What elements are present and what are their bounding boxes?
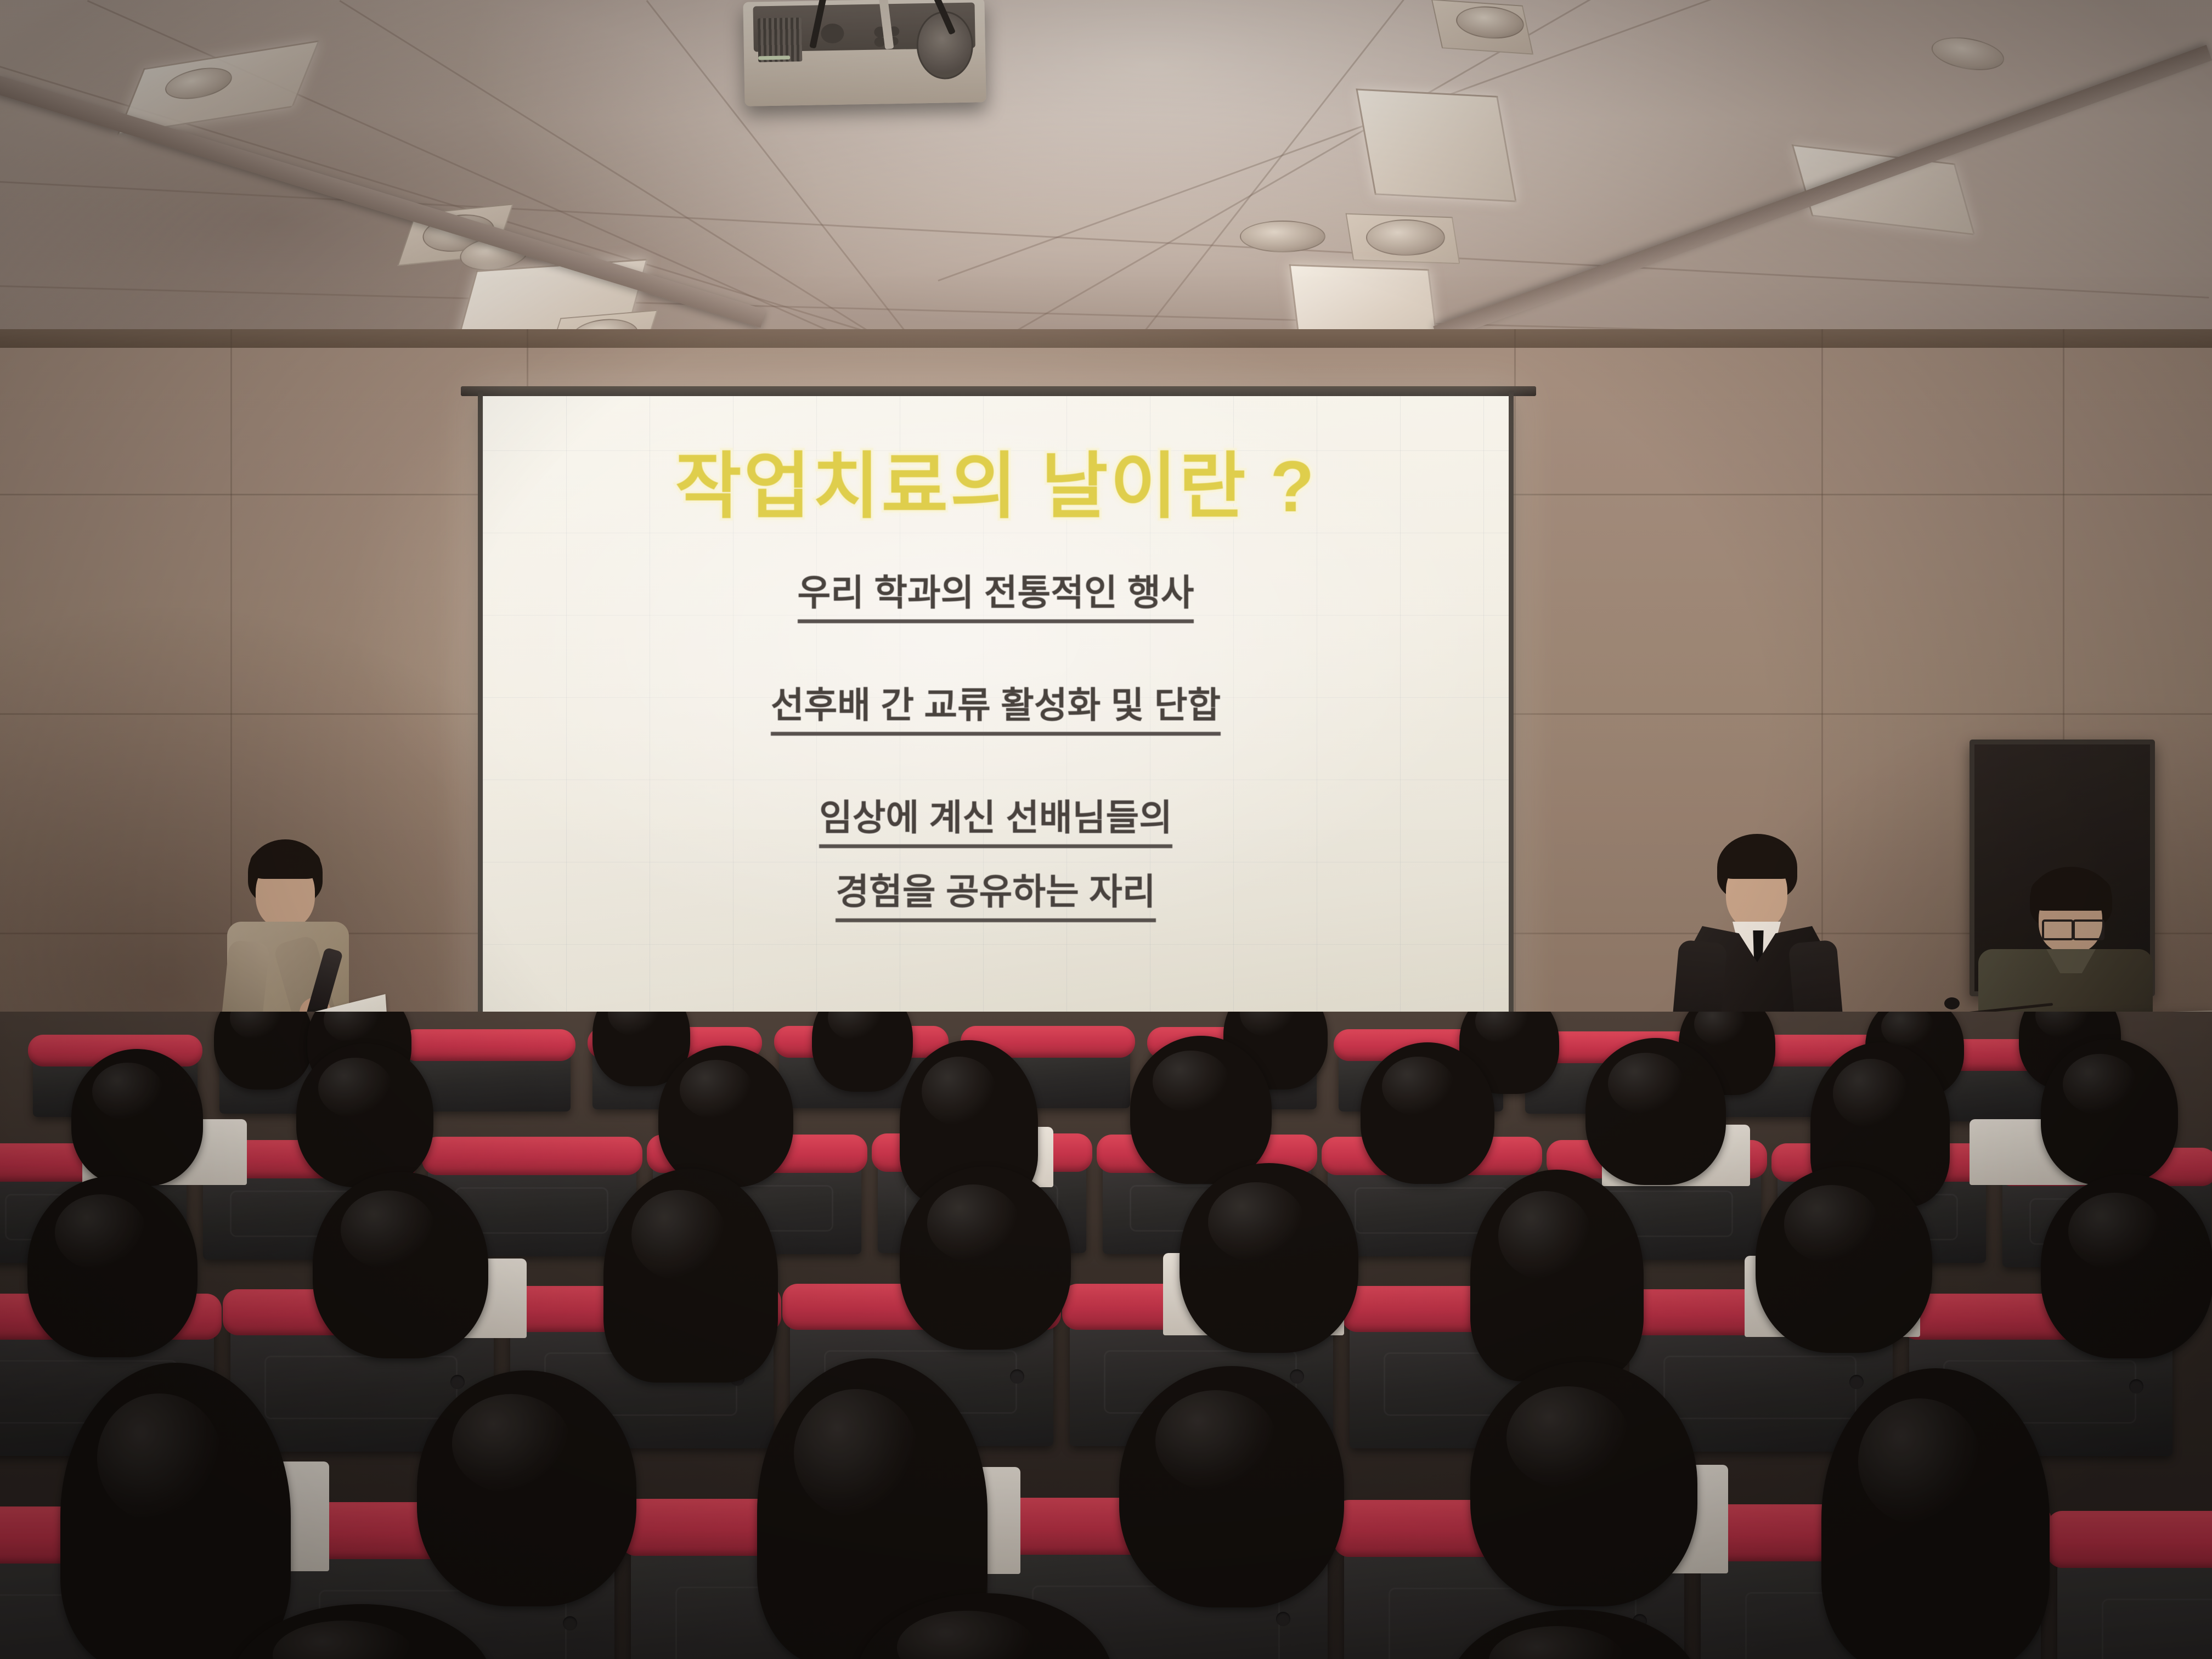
- slide-content: 작업치료의 날이란 ? 우리 학과의 전통적인 행사 선후배 간 교류 활성화 …: [483, 396, 1509, 1109]
- seat-knob: [1010, 1369, 1024, 1384]
- hair-sheen: [1489, 1626, 1625, 1659]
- hair-sheen: [1208, 1182, 1305, 1262]
- hair-sheen: [230, 1012, 283, 1040]
- hair-sheen: [680, 1060, 753, 1119]
- seat-cushion: [401, 1029, 575, 1061]
- audience-head: [1119, 1366, 1344, 1607]
- hair-sheen: [97, 1393, 222, 1522]
- slide-line-2: 선후배 간 교류 활성화 및 단합: [771, 676, 1221, 736]
- hair-sheen: [1155, 1390, 1277, 1492]
- audience-head: [71, 1049, 203, 1186]
- hair-sheen: [631, 1190, 726, 1280]
- audience-head: [2041, 1174, 2212, 1358]
- audience-head: [1361, 1042, 1494, 1184]
- hair-sheen: [273, 1621, 415, 1659]
- hair-sheen: [897, 1611, 1036, 1659]
- audience-head: [1585, 1038, 1726, 1185]
- audience-head: [900, 1166, 1071, 1350]
- hair-sheen: [1833, 1059, 1908, 1128]
- screen-right-edge: [1509, 391, 1514, 1087]
- slide-line-group: 임상에 계신 선배님들의 경험을 공유하는 자리: [819, 788, 1172, 922]
- audience-head: [603, 1169, 778, 1383]
- seat: [2057, 1543, 2212, 1659]
- hair-sheen: [927, 1184, 1019, 1261]
- seat-notch: [1663, 1356, 1857, 1419]
- slide-body: 우리 학과의 전통적인 행사 선후배 간 교류 활성화 및 단합 임상에 계신 …: [483, 563, 1509, 922]
- hair-sheen: [1382, 1057, 1454, 1116]
- hair-sheen: [1784, 1185, 1880, 1263]
- audience-head: [658, 1046, 793, 1187]
- hair-sheen: [828, 1012, 882, 1040]
- screen-surface: 작업치료의 날이란 ? 우리 학과의 전통적인 행사 선후배 간 교류 활성화 …: [483, 396, 1509, 1109]
- audience-head: [27, 1176, 198, 1357]
- audience-head: [812, 1012, 913, 1092]
- eyeglasses: [2073, 919, 2104, 940]
- projection-screen: 작업치료의 날이란 ? 우리 학과의 전통적인 행사 선후배 간 교류 활성화 …: [483, 396, 1509, 1109]
- hair-sheen: [452, 1394, 571, 1493]
- audience-head: [417, 1370, 636, 1606]
- screen-mounting-rail: [461, 386, 1536, 396]
- ceiling-projector: [743, 0, 986, 106]
- audience-seating: [0, 1012, 2212, 1659]
- seat-knob: [1290, 1369, 1304, 1384]
- hair-sheen: [92, 1063, 163, 1120]
- audience-head: [1821, 1368, 2050, 1659]
- screen-left-edge: [478, 391, 483, 1098]
- hair-sheen: [2063, 1054, 2137, 1115]
- audience-head: [1470, 1362, 1697, 1606]
- recessed-light-panel: [1356, 88, 1516, 202]
- hair-sheen: [1498, 1191, 1592, 1280]
- auditorium-photo: 작업치료의 날이란 ? 우리 학과의 전통적인 행사 선후배 간 교류 활성화 …: [0, 0, 2212, 1659]
- audience-head: [313, 1172, 488, 1358]
- audience-head: [2041, 1039, 2178, 1185]
- hair-sheen: [1153, 1051, 1229, 1113]
- hair-sheen: [324, 1012, 380, 1042]
- seat-knob: [563, 1616, 577, 1630]
- seat-knob: [450, 1375, 465, 1389]
- hair-sheen: [55, 1194, 146, 1271]
- speaker-left-hair-front: [250, 845, 320, 879]
- seat-notch: [2102, 1599, 2212, 1659]
- hair-sheen: [318, 1058, 392, 1118]
- audience-head: [1756, 1166, 1932, 1353]
- seat-knob: [2129, 1379, 2143, 1393]
- slide-line-3: 임상에 계신 선배님들의: [819, 788, 1172, 848]
- hair-sheen: [1858, 1398, 1982, 1525]
- gooseneck-mic-head: [1944, 997, 1960, 1009]
- hair-sheen: [1608, 1053, 1684, 1115]
- hair-sheen: [1694, 1012, 1746, 1046]
- seat-cushion: [2047, 1511, 2212, 1568]
- speaker-center-hair-front: [1719, 840, 1795, 879]
- slide-title: 작업치료의 날이란 ?: [675, 428, 1317, 533]
- slide-line-1: 우리 학과의 전통적인 행사: [798, 563, 1194, 623]
- hair-sheen: [794, 1389, 918, 1518]
- ceiling-speaker: [1240, 221, 1325, 252]
- eyeglasses: [2042, 919, 2074, 940]
- slide-line-4: 경험을 공유하는 자리: [836, 862, 1155, 922]
- seat-knob: [1849, 1375, 1864, 1389]
- ceiling-speaker: [1366, 219, 1445, 256]
- projector-status-led: [758, 55, 789, 60]
- seat-cushion: [422, 1137, 643, 1175]
- operator-hair-front: [2031, 871, 2111, 911]
- projector-focus-knob: [821, 23, 844, 43]
- seat-knob: [1276, 1612, 1290, 1626]
- hair-sheen: [341, 1190, 436, 1269]
- seat-notch: [264, 1356, 458, 1419]
- audience-head: [60, 1363, 291, 1659]
- audience-head: [296, 1043, 433, 1187]
- audience-head: [1130, 1036, 1272, 1184]
- hair-sheen: [608, 1012, 661, 1036]
- hair-sheen: [2035, 1012, 2090, 1038]
- hair-sheen: [1506, 1386, 1629, 1489]
- audience-head: [214, 1012, 313, 1090]
- hair-sheen: [922, 1057, 996, 1126]
- hair-sheen: [2068, 1193, 2162, 1270]
- hair-sheen: [1475, 1012, 1529, 1043]
- audience-head: [1470, 1170, 1644, 1381]
- audience-head: [1180, 1163, 1358, 1353]
- hair-sheen: [1240, 1012, 1296, 1037]
